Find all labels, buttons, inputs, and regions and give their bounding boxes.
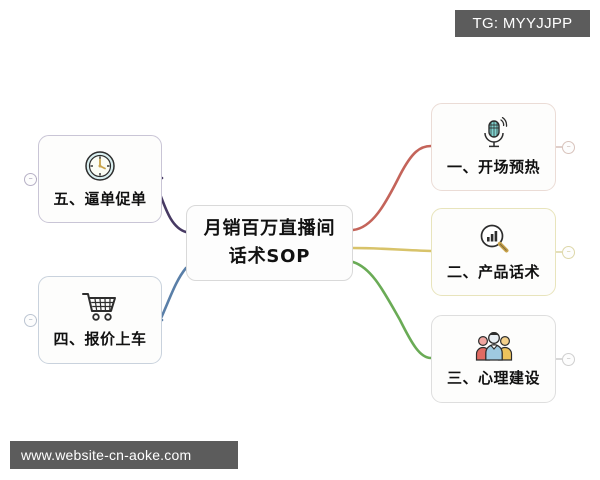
branch-node-chanpin-huashu[interactable]: 二、产品话术	[431, 208, 556, 296]
microphone-icon	[477, 117, 511, 151]
clock-compass-icon	[83, 149, 117, 183]
center-node[interactable]: 月销百万直播间 话术SOP	[186, 205, 353, 281]
branch-node-kaichang-yure[interactable]: 一、开场预热	[431, 103, 556, 191]
collapse-toggle-node-4[interactable]: −	[24, 314, 37, 327]
branch-node-label: 一、开场预热	[447, 156, 540, 177]
shopping-cart-icon	[81, 291, 119, 323]
connector-to-node-1	[353, 146, 431, 230]
mindmap-canvas: 月销百万直播间 话术SOP 一、开场预热 −	[0, 0, 600, 480]
branch-node-baojia-shangche[interactable]: 四、报价上车	[38, 276, 162, 364]
connector-to-node-3	[353, 262, 431, 358]
connector-to-node-4	[159, 268, 186, 321]
magnifier-chart-icon	[477, 222, 511, 256]
branch-node-label: 二、产品话术	[447, 261, 540, 282]
url-watermark-badge: www.website-cn-aoke.com	[10, 441, 238, 469]
people-group-icon	[474, 330, 514, 362]
collapse-toggle-node-3[interactable]: −	[562, 353, 575, 366]
branch-node-xinli-jianshe[interactable]: 三、心理建设	[431, 315, 556, 403]
branch-node-label: 三、心理建设	[447, 367, 540, 388]
collapse-toggle-node-2[interactable]: −	[562, 246, 575, 259]
center-node-line2: 话术SOP	[229, 244, 310, 270]
tg-watermark-badge: TG: MYYJJPP	[455, 10, 590, 37]
branch-node-label: 四、报价上车	[53, 328, 146, 349]
collapse-toggle-node-1[interactable]: −	[562, 141, 575, 154]
connector-to-node-2	[353, 248, 431, 251]
collapse-toggle-node-5[interactable]: −	[24, 173, 37, 186]
branch-node-bidan-cudan[interactable]: 五、逼单促单	[38, 135, 162, 223]
branch-node-label: 五、逼单促单	[53, 188, 146, 209]
center-node-line1: 月销百万直播间	[204, 216, 336, 242]
